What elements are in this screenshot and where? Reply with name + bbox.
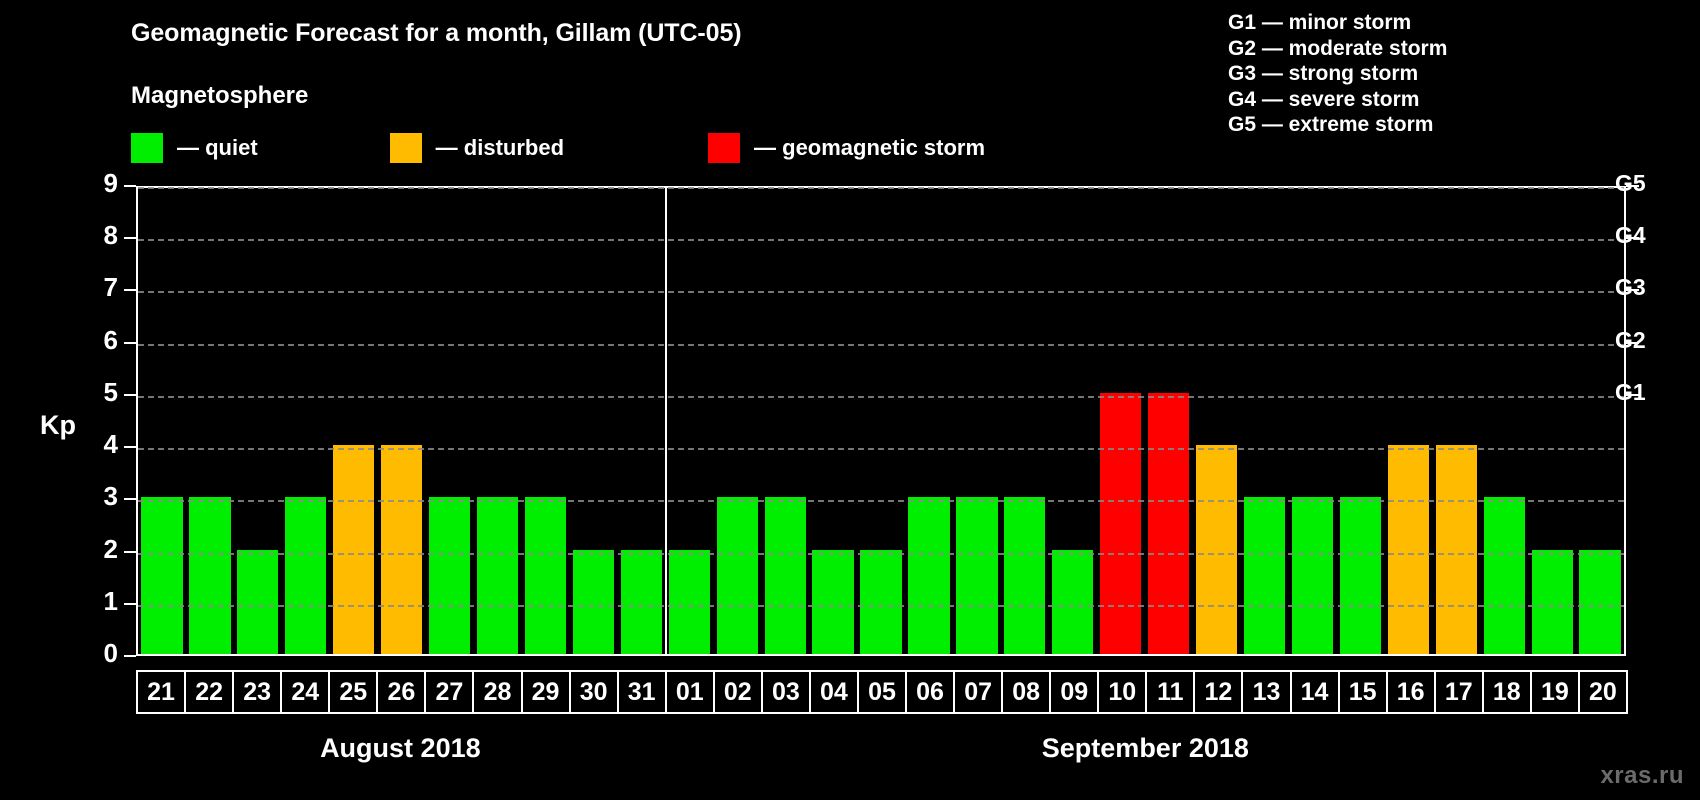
day-label: 31 xyxy=(628,680,656,705)
bar-cell xyxy=(1432,188,1480,654)
day-axis-cell: 30 xyxy=(569,670,619,714)
gridline xyxy=(138,605,1624,607)
day-label: 14 xyxy=(1301,680,1329,705)
day-label: 09 xyxy=(1060,680,1088,705)
kp-bar xyxy=(1292,497,1333,654)
bar-cell xyxy=(857,188,905,654)
bar-cell xyxy=(713,188,761,654)
kp-bar xyxy=(525,497,566,654)
month-caption: August 2018 xyxy=(250,733,550,764)
bar-cell xyxy=(1384,188,1432,654)
bar-cell xyxy=(1336,188,1384,654)
bar-cell xyxy=(569,188,617,654)
kp-bar xyxy=(1004,497,1045,654)
day-axis-cell: 08 xyxy=(1001,670,1051,714)
bar-cell xyxy=(1241,188,1289,654)
y-axis-tick-mark xyxy=(124,185,136,187)
bar-cell xyxy=(809,188,857,654)
day-axis-cell: 25 xyxy=(328,670,378,714)
y-axis-tick-mark xyxy=(124,498,136,500)
day-label: 21 xyxy=(147,680,175,705)
day-axis-cell: 12 xyxy=(1193,670,1243,714)
day-axis-cell: 20 xyxy=(1578,670,1628,714)
y-axis-tick-label: 2 xyxy=(78,534,118,565)
month-divider-line xyxy=(665,186,667,656)
kp-bar xyxy=(573,550,614,654)
kp-bar xyxy=(1100,393,1141,654)
kp-bar xyxy=(477,497,518,654)
g-scale-tick-label: G4 xyxy=(1615,222,1646,249)
day-label: 25 xyxy=(339,680,367,705)
kp-bar xyxy=(1532,550,1573,654)
bar-cell xyxy=(522,188,570,654)
y-axis-tick-mark xyxy=(124,289,136,291)
kp-bar xyxy=(189,497,230,654)
kp-bar xyxy=(429,497,470,654)
kp-bar xyxy=(381,445,422,654)
day-axis-cell: 11 xyxy=(1145,670,1195,714)
bar-cell xyxy=(186,188,234,654)
g-scale-tick-label: G5 xyxy=(1615,170,1646,197)
bar-cell xyxy=(1576,188,1624,654)
gridline xyxy=(138,396,1624,398)
day-axis-cell: 24 xyxy=(280,670,330,714)
day-label: 16 xyxy=(1397,680,1425,705)
kp-bar xyxy=(1340,497,1381,654)
kp-bar xyxy=(717,497,758,654)
bar-cell xyxy=(617,188,665,654)
bar-cell xyxy=(282,188,330,654)
gridline xyxy=(138,291,1624,293)
y-axis-tick-label: 3 xyxy=(78,481,118,512)
day-axis-cell: 27 xyxy=(424,670,474,714)
day-label: 13 xyxy=(1253,680,1281,705)
y-axis-tick-mark xyxy=(124,394,136,396)
watermark: xras.ru xyxy=(1600,762,1684,790)
bar-cell xyxy=(1001,188,1049,654)
kp-bar xyxy=(669,550,710,654)
kp-bar xyxy=(1484,497,1525,654)
day-label: 05 xyxy=(868,680,896,705)
bar-cell xyxy=(1193,188,1241,654)
day-axis-cell: 06 xyxy=(905,670,955,714)
day-axis-cell: 22 xyxy=(184,670,234,714)
kp-bar xyxy=(333,445,374,654)
g-scale-tick-mark xyxy=(1626,185,1639,187)
kp-bar xyxy=(908,497,949,654)
day-label: 07 xyxy=(964,680,992,705)
bar-cell xyxy=(234,188,282,654)
day-axis-cell: 05 xyxy=(857,670,907,714)
g-scale-tick-mark xyxy=(1626,289,1639,291)
day-label: 12 xyxy=(1205,680,1233,705)
y-axis-tick-label: 0 xyxy=(78,638,118,669)
kp-bar xyxy=(141,497,182,654)
y-axis-tick-label: 1 xyxy=(78,586,118,617)
day-axis-cell: 17 xyxy=(1434,670,1484,714)
kp-bar xyxy=(285,497,326,654)
day-label: 23 xyxy=(243,680,271,705)
day-label: 19 xyxy=(1541,680,1569,705)
kp-bar xyxy=(1148,393,1189,654)
day-label: 17 xyxy=(1445,680,1473,705)
y-axis-tick-label: 8 xyxy=(78,220,118,251)
g-scale-tick-mark xyxy=(1626,342,1639,344)
bar-series xyxy=(138,188,1624,654)
bar-cell xyxy=(1049,188,1097,654)
day-axis-cell: 15 xyxy=(1338,670,1388,714)
day-label: 06 xyxy=(916,680,944,705)
kp-bar xyxy=(1436,445,1477,654)
bar-cell xyxy=(761,188,809,654)
y-axis-tick-label: 4 xyxy=(78,429,118,460)
day-label: 26 xyxy=(387,680,415,705)
y-axis-tick-mark xyxy=(124,237,136,239)
g-scale-tick-label: G1 xyxy=(1615,379,1646,406)
bar-cell xyxy=(1097,188,1145,654)
gridline xyxy=(138,187,1624,189)
kp-bar xyxy=(860,550,901,654)
bar-cell xyxy=(330,188,378,654)
bar-cell xyxy=(378,188,426,654)
g-scale-tick-mark xyxy=(1626,394,1639,396)
kp-bar xyxy=(1244,497,1285,654)
day-label: 08 xyxy=(1012,680,1040,705)
day-label: 28 xyxy=(484,680,512,705)
gridline xyxy=(138,553,1624,555)
month-caption: September 2018 xyxy=(995,733,1295,764)
day-axis-cell: 04 xyxy=(809,670,859,714)
bar-cell xyxy=(474,188,522,654)
gridline xyxy=(138,344,1624,346)
y-axis-tick-label: 5 xyxy=(78,377,118,408)
kp-bar xyxy=(1196,445,1237,654)
day-label: 02 xyxy=(724,680,752,705)
day-label: 04 xyxy=(820,680,848,705)
kp-bar xyxy=(956,497,997,654)
day-axis-cell: 14 xyxy=(1290,670,1340,714)
day-axis-cell: 09 xyxy=(1049,670,1099,714)
day-axis-cell: 21 xyxy=(136,670,186,714)
bar-cell xyxy=(426,188,474,654)
day-label: 01 xyxy=(676,680,704,705)
bar-cell xyxy=(1528,188,1576,654)
kp-bar xyxy=(1052,550,1093,654)
day-label: 11 xyxy=(1157,680,1183,705)
day-label: 29 xyxy=(532,680,560,705)
g-scale-tick-mark xyxy=(1626,237,1639,239)
kp-bar xyxy=(1388,445,1429,654)
day-axis-cell: 28 xyxy=(472,670,522,714)
day-label: 24 xyxy=(291,680,319,705)
kp-bar xyxy=(812,550,853,654)
gridline xyxy=(138,448,1624,450)
kp-bar xyxy=(237,550,278,654)
day-axis-cell: 01 xyxy=(665,670,715,714)
day-label: 22 xyxy=(195,680,223,705)
day-axis-cell: 16 xyxy=(1386,670,1436,714)
y-axis-title: Kp xyxy=(40,410,76,441)
plot-area xyxy=(136,186,1626,656)
day-label: 18 xyxy=(1493,680,1521,705)
y-axis-tick-label: 6 xyxy=(78,325,118,356)
bar-cell xyxy=(953,188,1001,654)
day-axis-cell: 29 xyxy=(521,670,571,714)
bar-cell xyxy=(905,188,953,654)
bar-cell xyxy=(1289,188,1337,654)
day-axis-cell: 02 xyxy=(713,670,763,714)
day-axis-cell: 13 xyxy=(1241,670,1291,714)
g-scale-tick-label: G3 xyxy=(1615,274,1646,301)
y-axis-tick-mark xyxy=(124,551,136,553)
day-label: 10 xyxy=(1108,680,1136,705)
day-axis-cell: 23 xyxy=(232,670,282,714)
day-label: 27 xyxy=(436,680,464,705)
bar-cell xyxy=(665,188,713,654)
bar-cell xyxy=(138,188,186,654)
day-axis: 2122232425262728293031010203040506070809… xyxy=(136,670,1626,714)
y-axis-tick-mark xyxy=(124,342,136,344)
day-label: 30 xyxy=(580,680,608,705)
g-scale-tick-label: G2 xyxy=(1615,327,1646,354)
day-label: 15 xyxy=(1349,680,1377,705)
day-axis-cell: 26 xyxy=(376,670,426,714)
day-label: 03 xyxy=(772,680,800,705)
day-axis-cell: 10 xyxy=(1097,670,1147,714)
gridline xyxy=(138,239,1624,241)
day-axis-cell: 31 xyxy=(617,670,667,714)
day-axis-cell: 19 xyxy=(1530,670,1580,714)
y-axis-tick-label: 9 xyxy=(78,168,118,199)
bar-cell xyxy=(1145,188,1193,654)
y-axis-tick-mark xyxy=(124,603,136,605)
day-axis-cell: 07 xyxy=(953,670,1003,714)
day-axis-cell: 18 xyxy=(1482,670,1532,714)
y-axis-tick-mark xyxy=(124,446,136,448)
day-label: 20 xyxy=(1589,680,1617,705)
kp-bar xyxy=(765,497,806,654)
y-axis-tick-label: 7 xyxy=(78,272,118,303)
bar-cell xyxy=(1480,188,1528,654)
gridline xyxy=(138,500,1624,502)
day-axis-cell: 03 xyxy=(761,670,811,714)
y-axis-tick-mark xyxy=(124,655,136,657)
kp-bar xyxy=(1579,550,1620,654)
kp-bar xyxy=(621,550,662,654)
